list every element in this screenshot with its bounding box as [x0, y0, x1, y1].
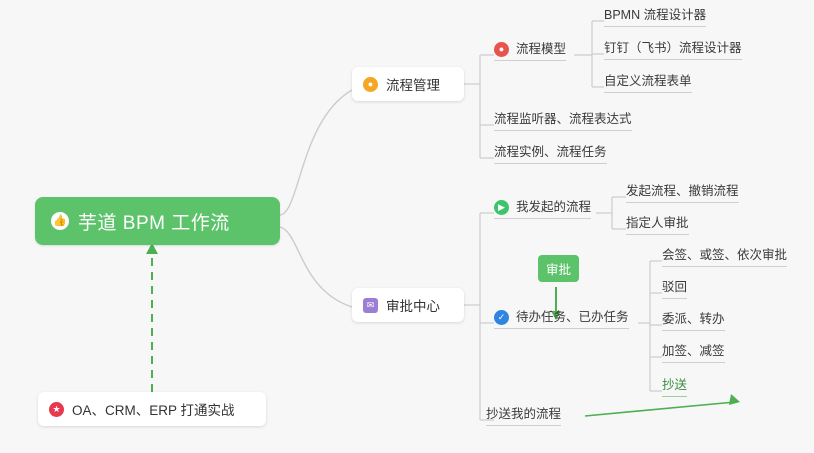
branch-flow-management-label: 流程管理 — [386, 74, 440, 94]
star-icon: ★ — [49, 402, 64, 417]
leaf-bpmn-designer-label: BPMN 流程设计器 — [604, 8, 706, 23]
leaf-cc[interactable]: 抄送 — [662, 378, 687, 397]
annotation-approval-badge: 审批 — [538, 255, 579, 282]
check-icon: ✓ — [494, 310, 509, 325]
leaf-add-remove-sign-label: 加签、减签 — [662, 344, 725, 359]
leaf-reject[interactable]: 驳回 — [662, 280, 687, 299]
leaf-cc-to-me-label: 抄送我的流程 — [486, 407, 561, 422]
leaf-dingtalk-designer[interactable]: 钉钉（飞书）流程设计器 — [604, 41, 742, 60]
leaf-start-cancel-flow[interactable]: 发起流程、撤销流程 — [626, 184, 739, 203]
branch-approval-center[interactable]: ✉ 审批中心 — [352, 288, 464, 322]
leaf-flow-instance-task-label: 流程实例、流程任务 — [494, 145, 607, 160]
leaf-my-initiated[interactable]: ▶ 我发起的流程 — [494, 200, 591, 219]
leaf-bpmn-designer[interactable]: BPMN 流程设计器 — [604, 8, 706, 27]
leaf-cc-to-me[interactable]: 抄送我的流程 — [486, 407, 561, 426]
leaf-my-initiated-label: 我发起的流程 — [516, 200, 591, 215]
leaf-flow-model[interactable]: ● 流程模型 — [494, 42, 566, 61]
leaf-assign-approver-label: 指定人审批 — [626, 216, 689, 231]
leaf-start-cancel-flow-label: 发起流程、撤销流程 — [626, 184, 739, 199]
leaf-todo-done-tasks[interactable]: ✓ 待办任务、已办任务 — [494, 310, 629, 329]
root-label: 芋道 BPM 工作流 — [78, 208, 230, 235]
leaf-custom-form-label: 自定义流程表单 — [604, 74, 692, 89]
leaf-flow-model-label: 流程模型 — [516, 42, 566, 57]
annotation-oa-crm-erp-label: OA、CRM、ERP 打通实战 — [72, 399, 235, 419]
leaf-assign-approver[interactable]: 指定人审批 — [626, 216, 689, 235]
thumbs-up-icon: 👍 — [51, 212, 69, 230]
mail-icon: ✉ — [363, 298, 378, 313]
message-icon: ● — [494, 42, 509, 57]
leaf-delegate-transfer-label: 委派、转办 — [662, 312, 725, 327]
branch-flow-management[interactable]: ● 流程管理 — [352, 67, 464, 101]
annotation-oa-crm-erp[interactable]: ★ OA、CRM、ERP 打通实战 — [38, 392, 266, 426]
leaf-countersign-label: 会签、或签、依次审批 — [662, 248, 787, 263]
leaf-dingtalk-designer-label: 钉钉（飞书）流程设计器 — [604, 41, 742, 56]
annotation-approval-badge-label: 审批 — [546, 263, 571, 277]
mindmap-canvas: 👍 芋道 BPM 工作流 ● 流程管理 ✉ 审批中心 ★ OA、CRM、ERP … — [0, 0, 814, 453]
leaf-cc-label: 抄送 — [662, 378, 687, 393]
leaf-todo-done-tasks-label: 待办任务、已办任务 — [516, 310, 629, 325]
leaf-reject-label: 驳回 — [662, 280, 687, 295]
leaf-flow-listener-expression[interactable]: 流程监听器、流程表达式 — [494, 112, 632, 131]
leaf-countersign[interactable]: 会签、或签、依次审批 — [662, 248, 787, 267]
leaf-delegate-transfer[interactable]: 委派、转办 — [662, 312, 725, 331]
leaf-add-remove-sign[interactable]: 加签、减签 — [662, 344, 725, 363]
leaf-flow-listener-expression-label: 流程监听器、流程表达式 — [494, 112, 632, 127]
location-pin-icon: ● — [363, 77, 378, 92]
leaf-custom-form[interactable]: 自定义流程表单 — [604, 74, 692, 93]
leaf-flow-instance-task[interactable]: 流程实例、流程任务 — [494, 145, 607, 164]
root-node[interactable]: 👍 芋道 BPM 工作流 — [35, 197, 280, 245]
branch-approval-center-label: 审批中心 — [386, 295, 440, 315]
send-icon: ▶ — [494, 200, 509, 215]
